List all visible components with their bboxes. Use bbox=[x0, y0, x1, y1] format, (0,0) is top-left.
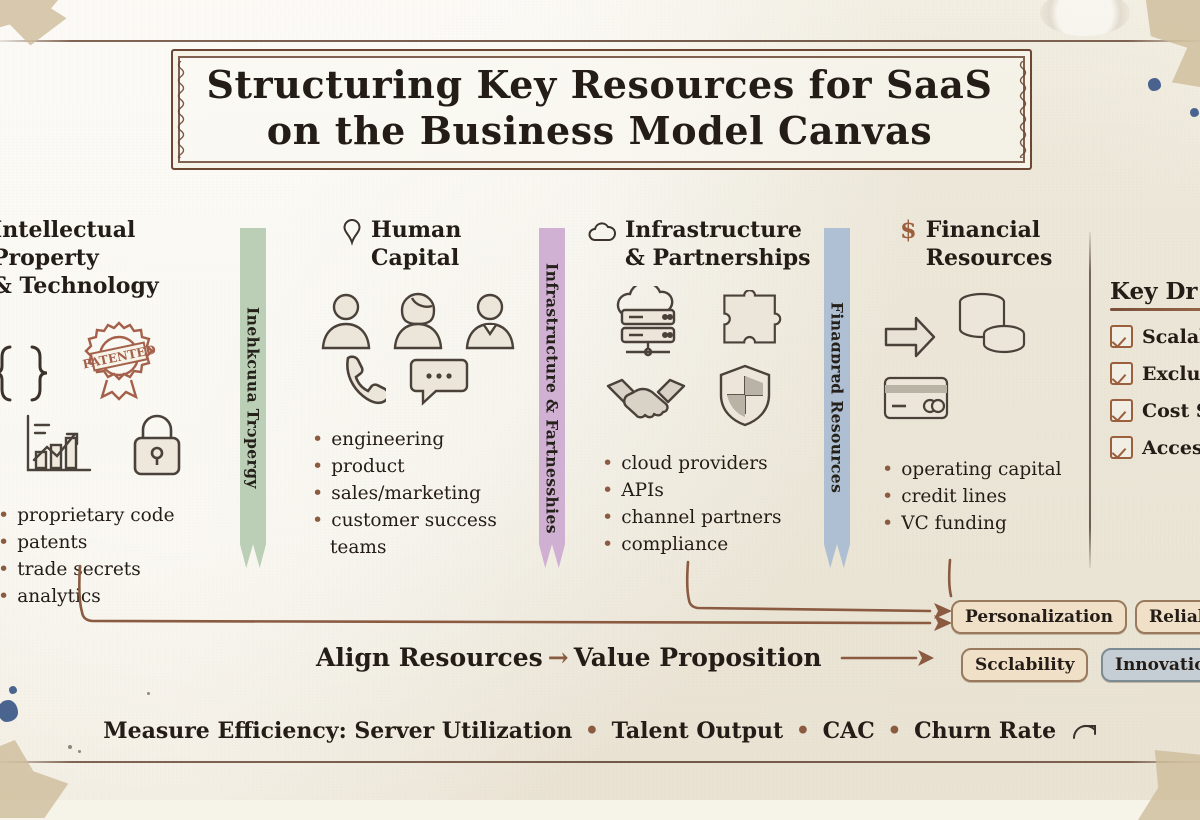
pill-label: Scclability bbox=[975, 655, 1074, 675]
key-driver-label: Exclu bbox=[1142, 363, 1200, 385]
key-driver-label: Access bbox=[1142, 437, 1200, 459]
lightbulb-icon bbox=[342, 218, 362, 246]
bullet-dot: • bbox=[602, 504, 613, 531]
list-item: •cloud providers bbox=[602, 450, 818, 477]
person-icon bbox=[318, 288, 374, 350]
icon-row-financial bbox=[882, 290, 1082, 422]
bullet-list-human-capital: •engineering •product •sales/marketing •… bbox=[312, 426, 527, 561]
footer-separator: • bbox=[580, 718, 604, 744]
dollar-sign-icon: $ bbox=[900, 216, 917, 243]
bullet-dot: • bbox=[0, 502, 9, 529]
column-heading-text: Financial Resources bbox=[926, 216, 1053, 272]
list-item: •compliance bbox=[602, 531, 818, 558]
handshake-icon bbox=[604, 372, 688, 428]
column-intellectual-property: Intellectual Property & Technology PATEN… bbox=[0, 216, 237, 610]
footer-metric-2: Talent Output bbox=[612, 718, 784, 744]
key-driver-item[interactable]: Cost S bbox=[1110, 399, 1200, 422]
pill-label: Personalization bbox=[965, 607, 1113, 627]
key-driver-item[interactable]: Access bbox=[1110, 436, 1200, 459]
checkbox-checked-icon[interactable] bbox=[1110, 436, 1133, 459]
list-item: •patents bbox=[0, 529, 237, 556]
key-driver-item[interactable]: Exclu bbox=[1110, 362, 1200, 385]
key-drivers-panel: Key Dr Scalab Exclu Cost S Access bbox=[1110, 278, 1200, 459]
list-item-label: credit lines bbox=[901, 483, 1006, 510]
list-item-label: product bbox=[331, 453, 404, 480]
list-item-label: VC funding bbox=[901, 510, 1007, 537]
checkbox-checked-icon[interactable] bbox=[1110, 399, 1133, 422]
bullet-list-infrastructure: •cloud providers •APIs •channel partners… bbox=[588, 450, 818, 558]
pill-label: Innovatio bbox=[1115, 655, 1200, 675]
list-item-label: cloud providers bbox=[621, 450, 767, 477]
page-title: Structuring Key Resources for SaaS on th… bbox=[171, 56, 1028, 160]
list-item-label: sales/marketing bbox=[331, 480, 481, 507]
key-drivers-underline bbox=[1110, 308, 1200, 311]
footer-separator: • bbox=[882, 718, 906, 744]
key-driver-label: Scalab bbox=[1142, 326, 1200, 348]
bullet-dot: • bbox=[312, 507, 323, 534]
list-item: •product bbox=[312, 453, 527, 480]
list-item-label: compliance bbox=[621, 531, 728, 558]
chat-bubble-icon bbox=[408, 354, 470, 406]
bullet-list-intellectual-property: •proprietary code •patents •trade secret… bbox=[0, 502, 237, 610]
icon-row-infrastructure-2 bbox=[588, 362, 818, 428]
column-financial-resources: $ Financial Resources •op bbox=[882, 216, 1082, 537]
credit-card-icon bbox=[882, 374, 950, 422]
arrow-right-icon bbox=[882, 314, 938, 360]
phone-icon bbox=[336, 352, 386, 406]
paper-speck-3 bbox=[147, 692, 150, 695]
growth-chart-icon bbox=[22, 412, 94, 478]
icon-row-human-capital bbox=[312, 288, 527, 350]
bullet-list-financial: •operating capital •credit lines •VC fun… bbox=[882, 456, 1082, 537]
list-item-label: APIs bbox=[621, 477, 664, 504]
key-driver-label: Cost S bbox=[1142, 400, 1200, 422]
bullet-dot: • bbox=[312, 426, 323, 453]
footer-separator: • bbox=[791, 718, 815, 744]
icon-row-intellectual-property: PATENTED bbox=[0, 318, 237, 404]
shield-icon bbox=[714, 362, 776, 428]
list-item: •credit lines bbox=[882, 483, 1082, 510]
vertical-tab-infrastructure: Infrastructure & Fartnesshies bbox=[539, 228, 565, 568]
list-item-label: customer success bbox=[331, 507, 497, 534]
bullet-dot: • bbox=[882, 483, 893, 510]
bullet-dot: • bbox=[602, 477, 613, 504]
list-item-label: trade secrets bbox=[17, 556, 141, 583]
tab-label: Finaɑɒrɐd Resources bbox=[828, 302, 847, 493]
person-suit-icon bbox=[462, 288, 518, 350]
list-item-label: analytics bbox=[17, 583, 101, 610]
top-border-rule bbox=[0, 40, 1200, 42]
column-heading-intellectual-property: Intellectual Property & Technology bbox=[0, 216, 237, 300]
pill-label: Reliab bbox=[1149, 607, 1200, 627]
column-heading-infrastructure: Infrastructure & Partnerships bbox=[588, 216, 818, 272]
puzzle-icon bbox=[716, 290, 788, 358]
bullet-dot: • bbox=[312, 453, 323, 480]
align-left-label: Align Resources bbox=[316, 643, 543, 672]
bullet-dot: • bbox=[602, 531, 613, 558]
icon-row-infrastructure bbox=[588, 286, 818, 358]
list-item-label: channel partners bbox=[621, 504, 781, 531]
cloud-icon bbox=[588, 222, 616, 242]
list-item: •proprietary code bbox=[0, 502, 237, 529]
ink-blot-top-right-2 bbox=[1190, 108, 1199, 117]
key-drivers-title: Key Dr bbox=[1110, 278, 1200, 305]
column-heading-human-capital: Human Capital bbox=[312, 216, 527, 272]
pill-reliability[interactable]: Reliab bbox=[1135, 600, 1200, 634]
list-item-continuation: teams bbox=[312, 534, 527, 561]
column-divider bbox=[1089, 232, 1091, 568]
bullet-dot: • bbox=[882, 510, 893, 537]
bottom-border-rule bbox=[0, 761, 1200, 763]
vertical-tab-intellectual-property: Inehkcuua Trɔpergy bbox=[240, 228, 266, 568]
tab-label: Infrastructure & Fartnesshies bbox=[543, 263, 562, 534]
ink-blot-top-right bbox=[1148, 78, 1161, 91]
list-item: •analytics bbox=[0, 583, 237, 610]
bullet-dot: • bbox=[882, 456, 893, 483]
padlock-icon bbox=[126, 408, 188, 478]
list-item: •engineering bbox=[312, 426, 527, 453]
footer-metric-4: Churn Rate bbox=[914, 718, 1056, 744]
icon-row-human-capital-2 bbox=[312, 352, 527, 406]
title-line-2: on the Business Model Canvas bbox=[267, 108, 932, 154]
column-heading-text: Infrastructure & Partnerships bbox=[625, 216, 811, 272]
list-item-label: engineering bbox=[331, 426, 444, 453]
bullet-dot: • bbox=[602, 450, 613, 477]
list-item: •trade secrets bbox=[0, 556, 237, 583]
person-female-icon bbox=[390, 288, 446, 350]
list-item-label: operating capital bbox=[901, 456, 1061, 483]
checkbox-checked-icon[interactable] bbox=[1110, 362, 1133, 385]
align-right-label: Value Proposition bbox=[574, 643, 822, 672]
icon-row-intellectual-property-2 bbox=[22, 408, 237, 478]
tab-label: Inehkcuua Trɔpergy bbox=[244, 307, 263, 489]
cloud-server-icon bbox=[608, 286, 690, 358]
pill-personalization[interactable]: Personalization bbox=[951, 600, 1127, 634]
align-resources-statement: Align Resources→Value Proposition bbox=[316, 643, 822, 672]
checkbox-checked-icon[interactable] bbox=[1110, 325, 1133, 348]
list-item-label: proprietary code bbox=[17, 502, 174, 529]
bullet-dot: • bbox=[312, 480, 323, 507]
vertical-tab-financial: Finaɑɒrɐd Resources bbox=[824, 228, 850, 568]
list-item: •sales/marketing bbox=[312, 480, 527, 507]
list-item-label: patents bbox=[17, 529, 87, 556]
list-item: •channel partners bbox=[602, 504, 818, 531]
list-item: •APIs bbox=[602, 477, 818, 504]
paper-speck-2 bbox=[78, 750, 81, 753]
align-arrow-icon: → bbox=[543, 643, 574, 672]
column-heading-text: Intellectual Property & Technology bbox=[0, 216, 237, 300]
list-item: •customer success bbox=[312, 507, 527, 534]
bullet-dot: • bbox=[0, 529, 9, 556]
footer-metric-1: Server Utilization bbox=[354, 718, 572, 744]
bullet-dot: • bbox=[0, 583, 9, 610]
column-heading-text: Human Capital bbox=[371, 216, 461, 272]
column-infrastructure-partnerships: Infrastructure & Partnerships bbox=[588, 216, 818, 558]
patented-badge-icon: PATENTED bbox=[76, 318, 162, 404]
key-driver-item[interactable]: Scalab bbox=[1110, 325, 1200, 348]
bullet-dot: • bbox=[0, 556, 9, 583]
column-heading-financial: $ Financial Resources bbox=[882, 216, 1082, 272]
coin-stack-icon bbox=[952, 290, 1030, 360]
ink-blot-bottom-left-2 bbox=[9, 686, 17, 694]
column-human-capital: Human Capital bbox=[312, 216, 527, 561]
pill-innovation[interactable]: Innovatio bbox=[1101, 648, 1200, 682]
list-item: •VC funding bbox=[882, 510, 1082, 537]
title-line-1: Structuring Key Resources for SaaS bbox=[206, 62, 992, 108]
pill-scalability[interactable]: Scclability bbox=[961, 648, 1088, 682]
trend-up-icon bbox=[1071, 721, 1097, 747]
list-item: •operating capital bbox=[882, 456, 1082, 483]
footer-lead-label: Measure Efficiency: bbox=[103, 718, 346, 744]
footer-metric-3: CAC bbox=[823, 718, 875, 744]
footer-metrics: Measure Efficiency: Server Utilization •… bbox=[0, 718, 1200, 747]
code-braces-icon bbox=[0, 342, 50, 404]
